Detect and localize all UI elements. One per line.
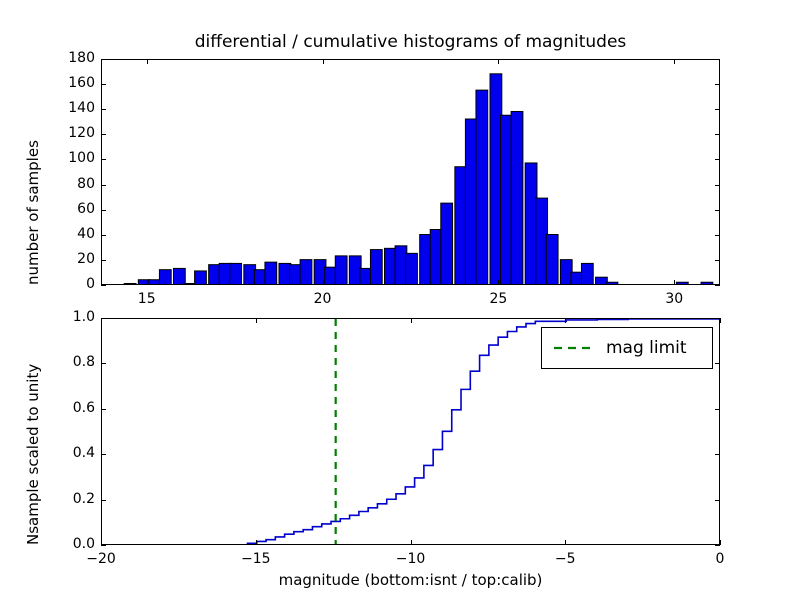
y-tick-label: 60 xyxy=(51,201,95,217)
x-tick-label: −15 xyxy=(226,551,286,567)
y-tick-label: 0.2 xyxy=(51,491,95,507)
x-tick-mark xyxy=(565,318,566,323)
y-tick-label: 160 xyxy=(51,75,95,91)
x-tick-mark xyxy=(101,318,102,323)
y-tick-mark xyxy=(715,363,720,364)
x-axis-label: magnitude (bottom:isnt / top:calib) xyxy=(101,571,720,589)
x-tick-mark xyxy=(323,280,324,285)
x-tick-mark xyxy=(565,540,566,545)
y-tick-mark xyxy=(715,260,720,261)
x-tick-label: −20 xyxy=(71,551,131,567)
x-tick-mark xyxy=(720,540,721,545)
x-tick-label: 15 xyxy=(117,291,177,307)
x-tick-label: −5 xyxy=(535,551,595,567)
x-tick-mark xyxy=(256,540,257,545)
y-tick-mark xyxy=(101,409,106,410)
y-tick-mark xyxy=(715,59,720,60)
y-tick-label: 140 xyxy=(51,100,95,116)
y-tick-label: 100 xyxy=(51,150,95,166)
legend-label-mag-limit: mag limit xyxy=(606,338,687,358)
y-tick-label: 1.0 xyxy=(51,309,95,325)
x-tick-mark xyxy=(323,59,324,64)
x-tick-label: 25 xyxy=(468,291,528,307)
y-tick-mark xyxy=(715,84,720,85)
y-tick-mark xyxy=(101,84,106,85)
x-tick-label: 30 xyxy=(644,291,704,307)
bottom-y-axis-label: Nsample scaled to unity xyxy=(24,364,42,545)
y-tick-mark xyxy=(101,235,106,236)
y-tick-mark xyxy=(715,409,720,410)
legend[interactable]: mag limit xyxy=(541,327,713,369)
y-tick-mark xyxy=(101,210,106,211)
top-histogram-axes xyxy=(101,59,720,285)
y-tick-mark xyxy=(101,185,106,186)
legend-dashed-line-icon xyxy=(552,342,592,354)
y-tick-mark xyxy=(101,363,106,364)
y-tick-label: 180 xyxy=(51,50,95,66)
y-tick-mark xyxy=(101,260,106,261)
y-tick-mark xyxy=(715,235,720,236)
x-tick-mark xyxy=(498,280,499,285)
figure-canvas: differential / cumulative histograms of … xyxy=(0,0,800,600)
y-tick-mark xyxy=(101,454,106,455)
x-tick-label: 0 xyxy=(690,551,750,567)
x-tick-mark xyxy=(720,318,721,323)
y-tick-label: 0.6 xyxy=(51,400,95,416)
y-tick-mark xyxy=(101,285,106,286)
y-tick-label: 0.4 xyxy=(51,445,95,461)
y-tick-label: 0.0 xyxy=(51,536,95,552)
y-tick-mark xyxy=(101,545,106,546)
x-tick-mark xyxy=(147,59,148,64)
top-y-axis-label: number of samples xyxy=(24,140,42,285)
y-tick-label: 80 xyxy=(51,176,95,192)
y-tick-mark xyxy=(101,159,106,160)
y-tick-label: 0 xyxy=(51,276,95,292)
y-tick-label: 40 xyxy=(51,226,95,242)
x-tick-label: 20 xyxy=(293,291,353,307)
y-tick-mark xyxy=(101,59,106,60)
x-tick-mark xyxy=(674,59,675,64)
y-tick-mark xyxy=(715,285,720,286)
y-tick-mark xyxy=(715,185,720,186)
top-histogram-plot xyxy=(102,60,719,284)
y-tick-mark xyxy=(715,134,720,135)
y-tick-label: 20 xyxy=(51,251,95,267)
x-tick-mark xyxy=(101,540,102,545)
x-tick-mark xyxy=(256,318,257,323)
x-tick-label: −10 xyxy=(381,551,441,567)
figure-title: differential / cumulative histograms of … xyxy=(101,32,720,52)
y-tick-mark xyxy=(101,134,106,135)
x-tick-mark xyxy=(498,59,499,64)
y-tick-mark xyxy=(101,109,106,110)
x-tick-mark xyxy=(674,280,675,285)
y-tick-mark xyxy=(715,109,720,110)
y-tick-mark xyxy=(101,500,106,501)
y-tick-mark xyxy=(715,159,720,160)
y-tick-label: 0.8 xyxy=(51,354,95,370)
y-tick-mark xyxy=(715,500,720,501)
x-tick-mark xyxy=(411,318,412,323)
x-tick-mark xyxy=(411,540,412,545)
y-tick-mark xyxy=(715,210,720,211)
y-tick-mark xyxy=(715,454,720,455)
y-tick-label: 120 xyxy=(51,125,95,141)
x-tick-mark xyxy=(147,280,148,285)
y-tick-mark xyxy=(715,545,720,546)
